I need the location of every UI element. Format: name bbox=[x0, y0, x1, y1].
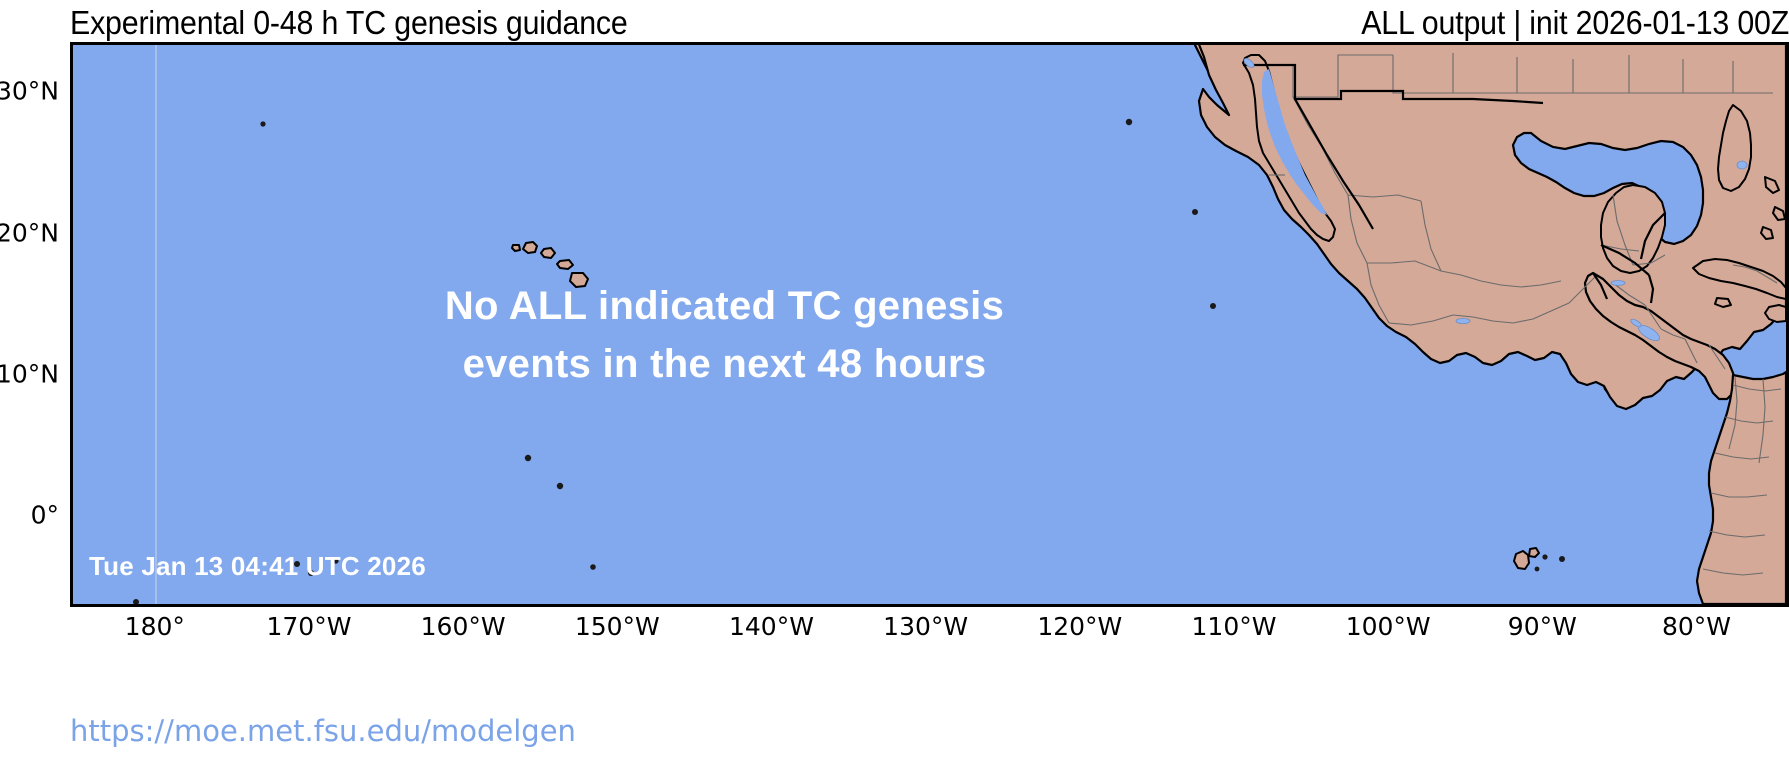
lake-okeechobee bbox=[1737, 161, 1747, 169]
revillagigedo-island bbox=[1192, 209, 1198, 215]
hawaii-niihau bbox=[512, 245, 520, 251]
line-island-2 bbox=[557, 483, 563, 489]
hawaii-maui bbox=[557, 260, 573, 269]
latitude-tick-2: 10°N bbox=[0, 359, 59, 388]
clipperton-island bbox=[1210, 303, 1216, 309]
lake-chapala bbox=[1456, 318, 1470, 323]
lake-izabal bbox=[1611, 281, 1625, 286]
latitude-tick-3: 0° bbox=[0, 501, 59, 530]
source-url-link[interactable]: https://moe.met.fsu.edu/modelgen bbox=[70, 714, 576, 748]
johnston-atoll bbox=[260, 121, 265, 126]
hawaii-bigisland bbox=[570, 273, 588, 287]
galapagos-small-2 bbox=[1535, 567, 1540, 572]
hispaniola bbox=[1765, 305, 1786, 322]
latitude-tick-0: 30°N bbox=[0, 77, 59, 106]
galapagos-isabela bbox=[1514, 551, 1529, 569]
page-title: Experimental 0-48 h TC genesis guidance bbox=[70, 6, 628, 40]
line-island-6 bbox=[590, 564, 596, 570]
figure-canvas: Experimental 0-48 h TC genesis guidance … bbox=[0, 0, 1789, 768]
jamaica bbox=[1715, 298, 1731, 307]
line-island-1 bbox=[525, 455, 531, 461]
galapagos-small-3 bbox=[1559, 556, 1565, 562]
galapagos-small-1 bbox=[1542, 554, 1547, 559]
hawaii-oahu bbox=[541, 248, 555, 258]
model-init-label: ALL output | init 2026-01-13 00Z bbox=[1361, 6, 1789, 40]
generation-timestamp: Tue Jan 13 04:41 UTC 2026 bbox=[89, 551, 426, 582]
map-axes[interactable]: .land { fill:#d4a998; stroke:#000000; st… bbox=[70, 42, 1789, 607]
guadalupe-island bbox=[1126, 119, 1132, 125]
longitude-tick-10: 80°W bbox=[1576, 612, 1789, 641]
galapagos-santacruz bbox=[1529, 548, 1539, 557]
latitude-tick-1: 20°N bbox=[0, 218, 59, 247]
hawaii-kauai bbox=[523, 242, 537, 253]
basemap-svg: .land { fill:#d4a998; stroke:#000000; st… bbox=[73, 45, 1786, 604]
line-island-7 bbox=[133, 599, 139, 604]
header-title-row: Experimental 0-48 h TC genesis guidance … bbox=[70, 0, 1789, 40]
